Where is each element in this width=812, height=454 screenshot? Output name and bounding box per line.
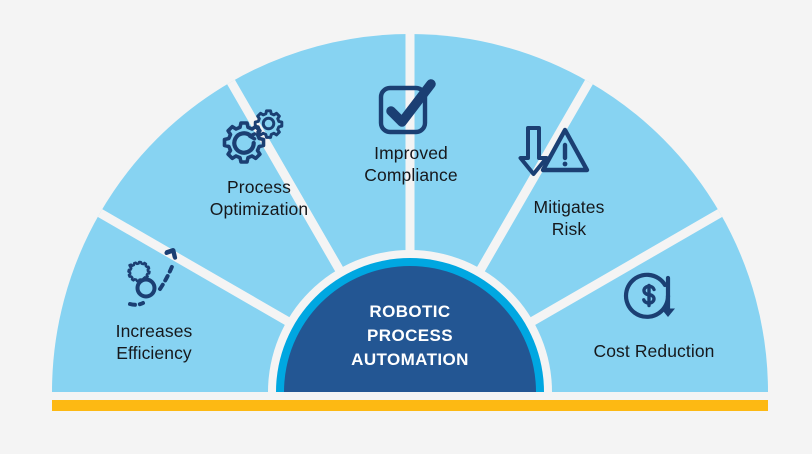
hub-title: ROBOTIC PROCESS AUTOMATION xyxy=(300,300,520,372)
infographic-root: Increases Efficiency Process Optimizatio… xyxy=(0,0,812,454)
baseline-bar xyxy=(52,400,768,411)
fan-diagram xyxy=(0,0,812,454)
